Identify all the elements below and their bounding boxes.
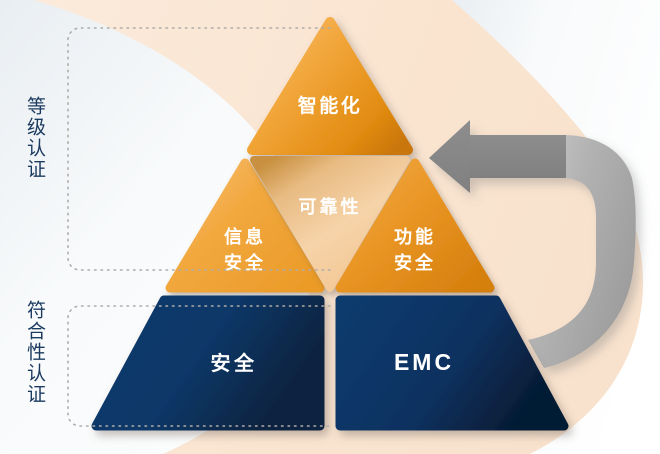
block-information-security-label-line1: 信息 — [224, 226, 266, 247]
block-functional-safety-label-line2: 安全 — [394, 252, 436, 273]
block-safety-label: 安全 — [211, 351, 258, 375]
block-reliability-label: 可靠性 — [299, 196, 362, 217]
pyramid-diagram-svg: 智能化 信息 安全 可靠性 功能 安全 安全 EMC — [0, 0, 660, 454]
block-emc-label: EMC — [394, 349, 454, 375]
feedback-arrow-shaft — [468, 135, 566, 178]
diagram-canvas: 智能化 信息 安全 可靠性 功能 安全 安全 EMC — [0, 0, 660, 454]
block-intelligence-label: 智能化 — [298, 94, 363, 117]
side-label-conformity-certification: 符合性认证 — [24, 300, 44, 405]
side-label-grade-certification: 等级认证 — [24, 96, 44, 180]
block-functional-safety-label-line1: 功能 — [394, 226, 436, 247]
